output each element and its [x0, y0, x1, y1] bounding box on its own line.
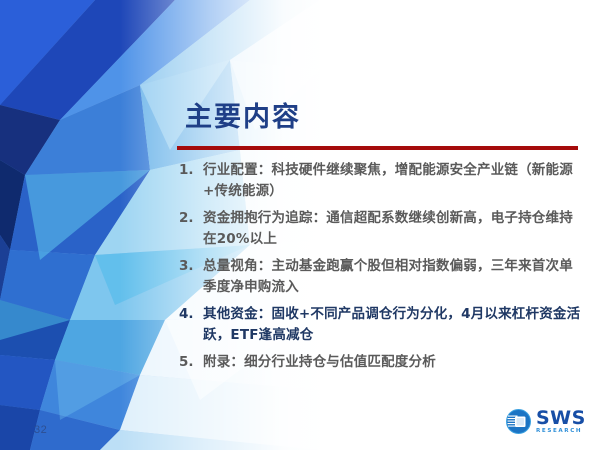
- list-item-number: 5.: [177, 352, 203, 373]
- list-item-number: 2.: [177, 208, 203, 229]
- list-item-label: 行业配置：科技硬件继续聚焦，增配能源安全产业链（新能源+传统能源）: [203, 160, 581, 202]
- sws-logo-mark-icon: [506, 409, 531, 434]
- list-item-label: 资金拥抱行为追踪：通信超配系数继续创新高，电子持仓维持在20%以上: [203, 208, 581, 250]
- list-item-number: 1.: [177, 160, 203, 181]
- presentation-slide: 32 主要内容 1. 行业配置：科技硬件继续聚焦，增配能源安全产业链（新能源+传…: [0, 0, 600, 450]
- logo-name: SWS: [536, 409, 586, 428]
- list-item[interactable]: 1. 行业配置：科技硬件继续聚焦，增配能源安全产业链（新能源+传统能源）: [177, 160, 581, 202]
- list-item-active[interactable]: 4. 其他资金：固收+不同产品调仓行为分化，4月以来杠杆资金活跃，ETF逢高减仓: [177, 304, 581, 346]
- list-item-label: 附录：细分行业持仓与估值匹配度分析: [203, 352, 581, 373]
- list-item[interactable]: 3. 总量视角：主动基金跑赢个股但相对指数偏弱，三年来首次单季度净申购流入: [177, 256, 581, 298]
- sws-research-logo: SWS RESEARCH: [506, 409, 586, 435]
- list-item-number: 4.: [177, 304, 203, 325]
- list-item[interactable]: 5. 附录：细分行业持仓与估值匹配度分析: [177, 352, 581, 373]
- page-number: 32: [34, 424, 47, 436]
- list-item-label: 其他资金：固收+不同产品调仓行为分化，4月以来杠杆资金活跃，ETF逢高减仓: [203, 304, 581, 346]
- list-item-number: 3.: [177, 256, 203, 277]
- title-underline-rule: [177, 146, 578, 150]
- list-item-label: 总量视角：主动基金跑赢个股但相对指数偏弱，三年来首次单季度净申购流入: [203, 256, 581, 298]
- logo-wordmark: SWS RESEARCH: [536, 409, 586, 435]
- logo-subtitle: RESEARCH: [536, 429, 586, 435]
- page-title: 主要内容: [185, 104, 301, 131]
- contents-list: 1. 行业配置：科技硬件继续聚焦，增配能源安全产业链（新能源+传统能源） 2. …: [177, 160, 581, 379]
- list-item[interactable]: 2. 资金拥抱行为追踪：通信超配系数继续创新高，电子持仓维持在20%以上: [177, 208, 581, 250]
